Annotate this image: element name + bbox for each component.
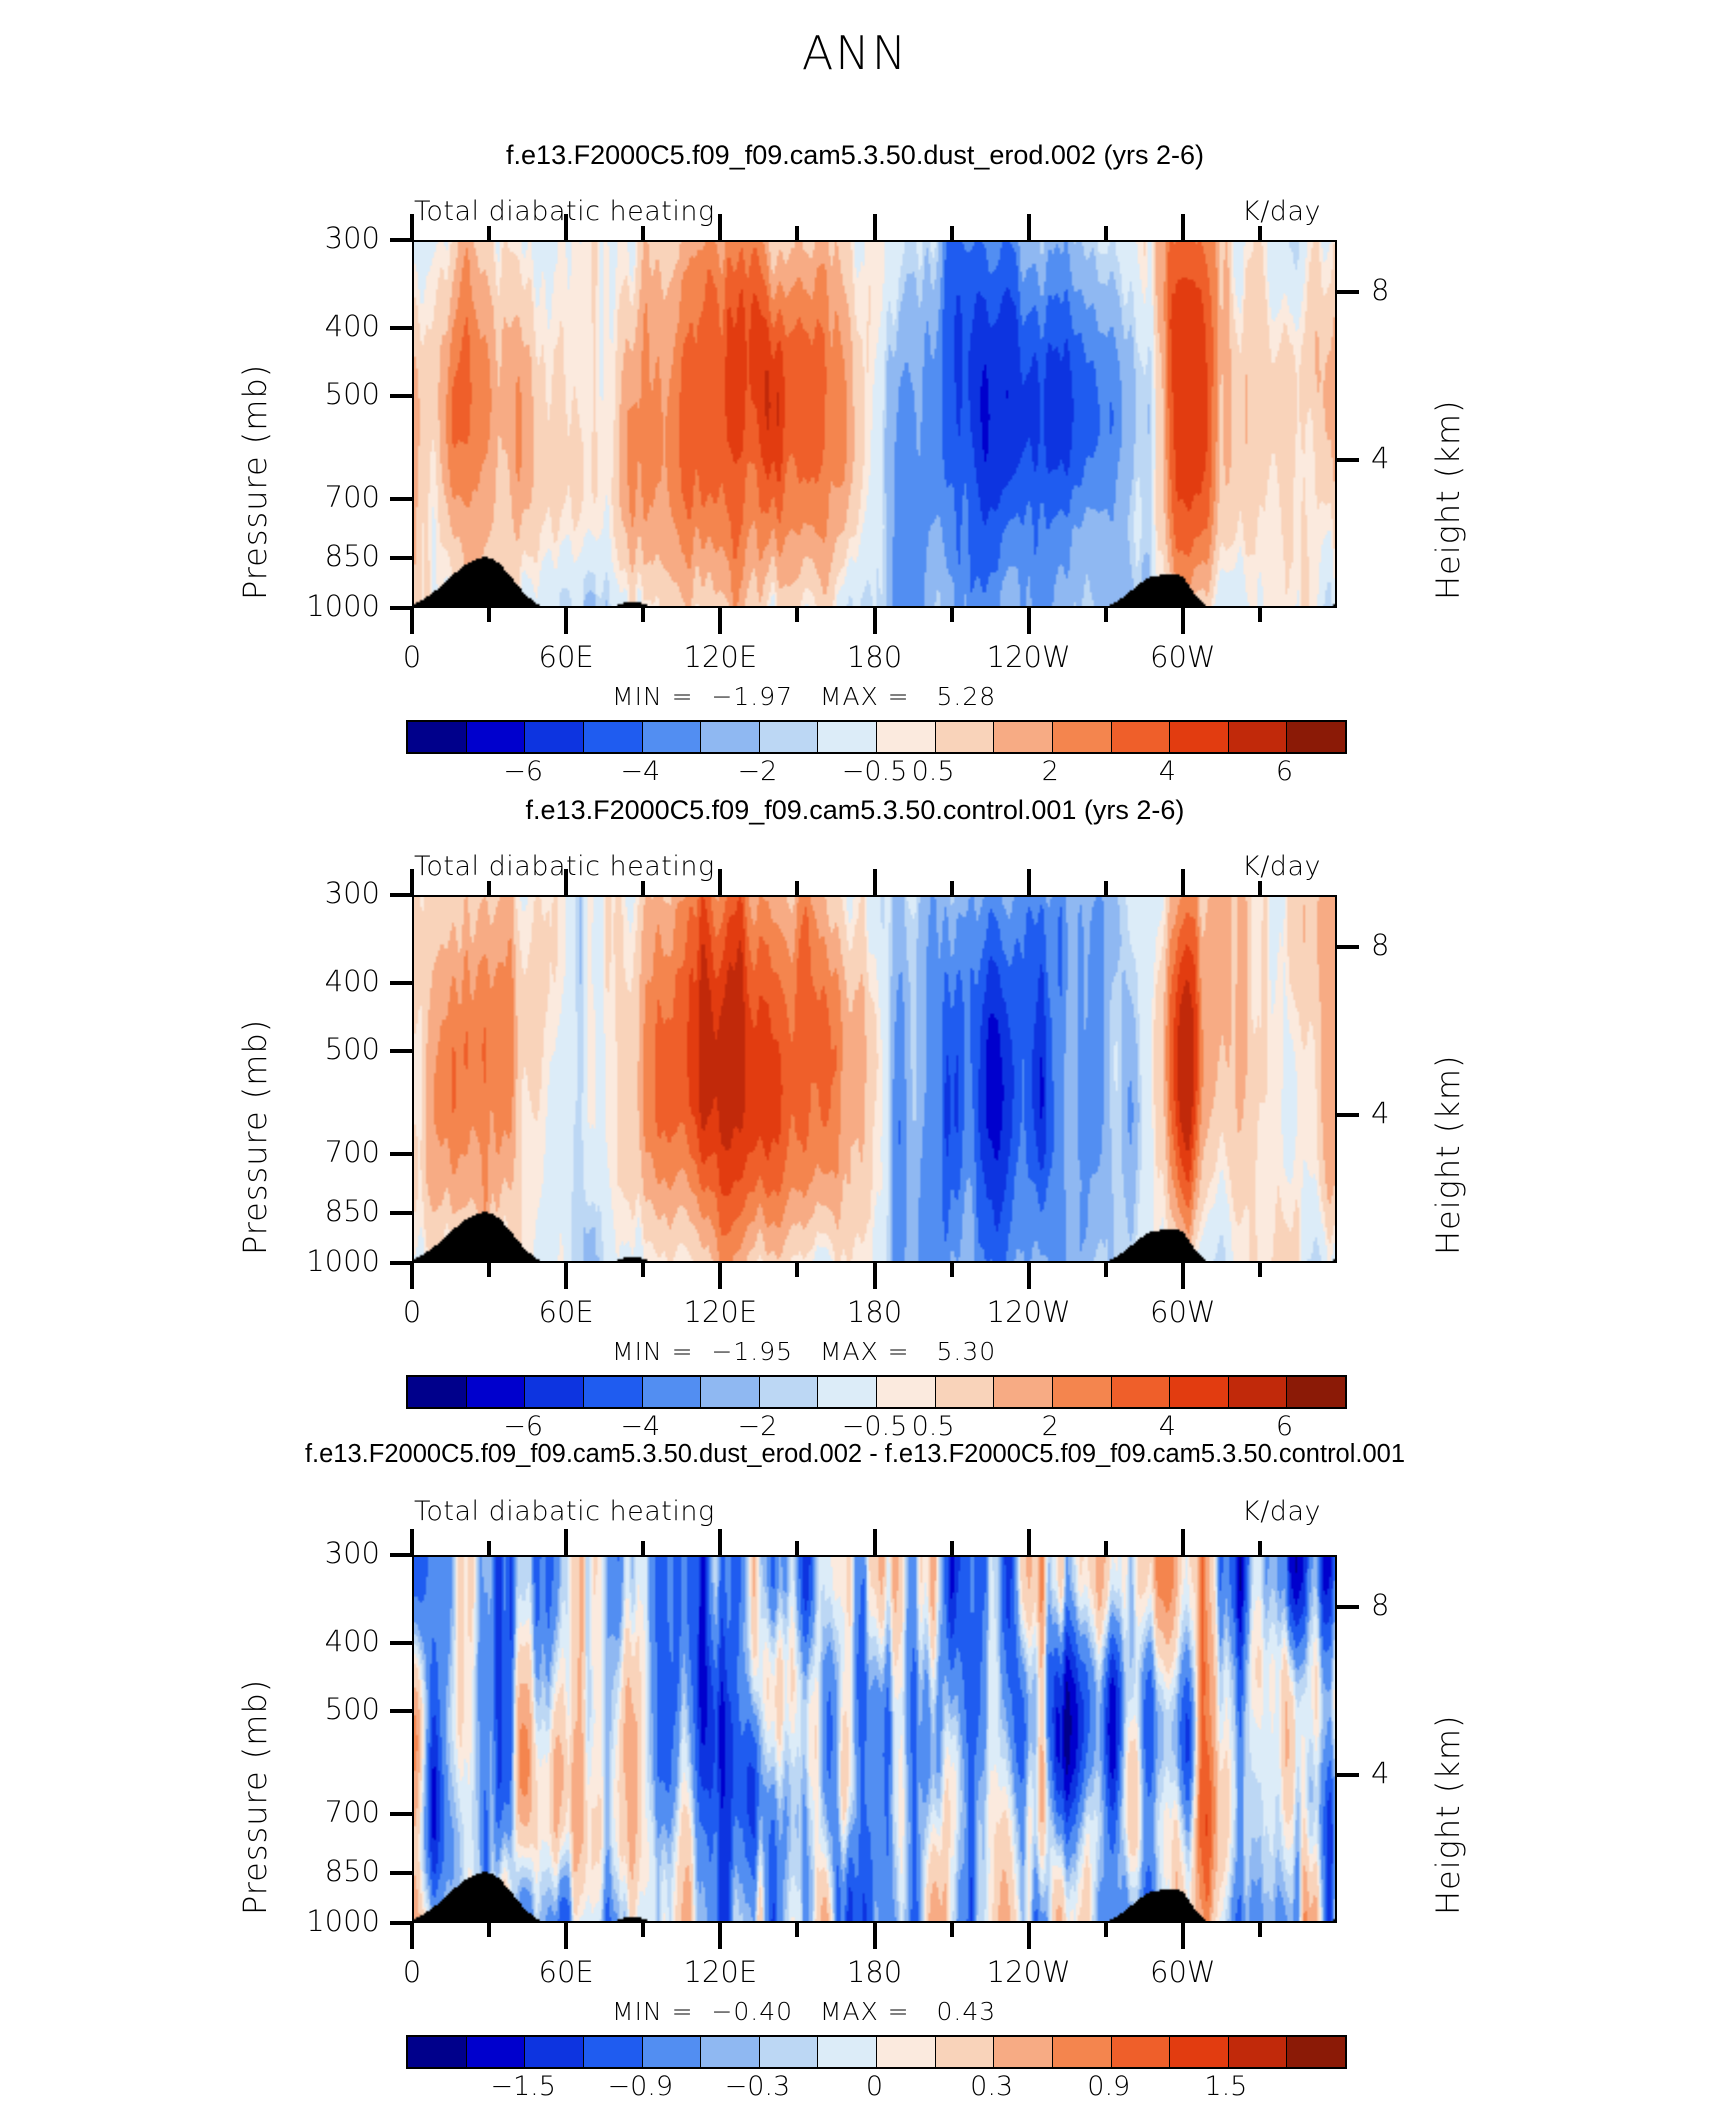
colorbar-label: 2 (990, 756, 1110, 787)
colorbar-label: 1.5 (1166, 2071, 1286, 2102)
xtick-major (564, 608, 568, 634)
ytick-major (390, 238, 412, 242)
colorbar (406, 720, 1347, 754)
ytick-label-right: 4 (1371, 1096, 1431, 1130)
y-axis-title-right: Height (km) (1429, 1714, 1467, 1915)
ytick-major (390, 1921, 412, 1925)
xtick-top-minor (641, 226, 645, 240)
colorbar-segment-10 (994, 2037, 1053, 2067)
xtick-top-minor (641, 881, 645, 895)
xtick-major (1181, 608, 1185, 634)
max-value: 5.28 (936, 682, 996, 711)
xtick-label: 120W (949, 1295, 1109, 1329)
xtick-label: 60E (486, 1955, 646, 1989)
colorbar-segment-8 (877, 722, 936, 752)
xtick-top-major (410, 1529, 414, 1555)
xtick-top-major (410, 214, 414, 240)
xtick-top-minor (795, 226, 799, 240)
xtick-minor (641, 608, 645, 622)
xtick-minor (1104, 1923, 1108, 1937)
colorbar-segment-3 (584, 1377, 643, 1407)
colorbar-label: −0.3 (697, 2071, 817, 2102)
ytick-major (390, 606, 412, 610)
ytick-label-right: 4 (1371, 441, 1431, 475)
max-value: 5.30 (936, 1337, 996, 1366)
colorbar-segment-2 (525, 722, 584, 752)
colorbar (406, 1375, 1347, 1409)
colorbar-segment-4 (643, 722, 702, 752)
ytick-label: 850 (262, 539, 380, 573)
xtick-top-major (873, 869, 877, 895)
colorbar-label: −4 (580, 1411, 700, 1442)
xtick-top-minor (1104, 226, 1108, 240)
colorbar-segment-7 (818, 722, 877, 752)
xtick-minor (950, 608, 954, 622)
xtick-top-minor (1258, 1541, 1262, 1555)
colorbar-segment-5 (701, 1377, 760, 1407)
xtick-label: 60W (1103, 640, 1263, 674)
xtick-major (410, 1923, 414, 1949)
colorbar-label: −2 (697, 756, 817, 787)
colorbar-segment-14 (1229, 1377, 1288, 1407)
xtick-label: 60W (1103, 1955, 1263, 1989)
colorbar-label: 4 (1107, 1411, 1227, 1442)
ytick-label: 700 (262, 480, 380, 514)
ytick-label: 300 (262, 221, 380, 255)
xtick-label: 120E (640, 1295, 800, 1329)
ytick-major (390, 1211, 412, 1215)
colorbar-label: 0.3 (932, 2071, 1052, 2102)
ytick-label: 1000 (262, 1244, 380, 1278)
min-prefix: MIN = (612, 682, 694, 711)
colorbar-segment-9 (936, 2037, 995, 2067)
colorbar-segment-12 (1112, 722, 1171, 752)
xtick-major (873, 1923, 877, 1949)
contour-field (414, 242, 1335, 606)
colorbar-segment-2 (525, 2037, 584, 2067)
ytick-label: 500 (262, 377, 380, 411)
xtick-minor (950, 1263, 954, 1277)
xtick-major (718, 1923, 722, 1949)
ytick-major (390, 326, 412, 330)
min-max-annotation: MIN = −1.97 MAX = 5.28 (612, 682, 996, 711)
ytick-label: 1000 (262, 1904, 380, 1938)
xtick-major (564, 1923, 568, 1949)
ytick-label: 300 (262, 876, 380, 910)
xtick-label: 60E (486, 640, 646, 674)
colorbar-segment-8 (877, 1377, 936, 1407)
xtick-minor (641, 1263, 645, 1277)
xtick-label: 0 (332, 640, 492, 674)
colorbar-label: 6 (1224, 1411, 1344, 1442)
xtick-top-major (564, 214, 568, 240)
xtick-top-major (1181, 869, 1185, 895)
xtick-major (564, 1263, 568, 1289)
colorbar-segment-9 (936, 722, 995, 752)
colorbar-segment-15 (1287, 722, 1345, 752)
xtick-label: 180 (795, 640, 955, 674)
xtick-major (718, 1263, 722, 1289)
xtick-label: 180 (795, 1295, 955, 1329)
ytick-major (390, 1049, 412, 1053)
xtick-top-minor (950, 881, 954, 895)
xtick-minor (795, 608, 799, 622)
colorbar-segment-5 (701, 2037, 760, 2067)
y-axis-title-right: Height (km) (1429, 399, 1467, 600)
ytick-label-right: 8 (1371, 1588, 1431, 1622)
ytick-label: 400 (262, 1624, 380, 1658)
ytick-label: 500 (262, 1692, 380, 1726)
xtick-minor (1104, 1263, 1108, 1277)
ytick-right (1337, 945, 1359, 949)
colorbar-segment-12 (1112, 1377, 1171, 1407)
colorbar-segment-14 (1229, 2037, 1288, 2067)
xtick-minor (487, 1923, 491, 1937)
min-value: −1.97 (711, 682, 793, 711)
ytick-label: 300 (262, 1536, 380, 1570)
xtick-minor (487, 608, 491, 622)
xtick-top-minor (487, 226, 491, 240)
min-max-annotation: MIN = −0.40 MAX = 0.43 (612, 1997, 996, 2026)
xtick-minor (795, 1923, 799, 1937)
ytick-major (390, 1641, 412, 1645)
colorbar-label: 4 (1107, 756, 1227, 787)
colorbar-label: −6 (463, 1411, 583, 1442)
xtick-top-major (718, 869, 722, 895)
xtick-top-major (718, 214, 722, 240)
y-axis-title: Pressure (mb) (236, 364, 274, 600)
xtick-top-major (1181, 1529, 1185, 1555)
colorbar-segment-7 (818, 2037, 877, 2067)
colorbar-label: −0.9 (580, 2071, 700, 2102)
xtick-top-major (718, 1529, 722, 1555)
min-value: −0.40 (711, 1997, 793, 2026)
xtick-top-minor (950, 1541, 954, 1555)
xtick-top-major (873, 1529, 877, 1555)
colorbar-segment-4 (643, 2037, 702, 2067)
colorbar-segment-0 (408, 722, 467, 752)
colorbar-label: 0.5 (873, 1411, 993, 1442)
contour-field (414, 1557, 1335, 1921)
xtick-label: 120W (949, 640, 1109, 674)
plot-area (412, 1555, 1337, 1923)
plot-area (412, 240, 1337, 608)
xtick-top-major (1027, 214, 1031, 240)
xtick-top-minor (1104, 881, 1108, 895)
xtick-major (1027, 1263, 1031, 1289)
colorbar (406, 2035, 1347, 2069)
ytick-right (1337, 290, 1359, 294)
colorbar-label: −6 (463, 756, 583, 787)
figure-heading: ANN (0, 26, 1710, 80)
xtick-label: 60E (486, 1295, 646, 1329)
ytick-major (390, 1871, 412, 1875)
xtick-major (718, 608, 722, 634)
colorbar-segment-15 (1287, 2037, 1345, 2067)
colorbar-label: 0 (815, 2071, 935, 2102)
ytick-label: 700 (262, 1795, 380, 1829)
xtick-label: 60W (1103, 1295, 1263, 1329)
y-axis-title-right: Height (km) (1429, 1054, 1467, 1255)
xtick-major (1027, 1923, 1031, 1949)
xtick-major (1181, 1263, 1185, 1289)
ytick-major (390, 1709, 412, 1713)
xtick-top-major (410, 869, 414, 895)
xtick-major (410, 608, 414, 634)
colorbar-segment-6 (760, 722, 819, 752)
xtick-minor (487, 1263, 491, 1277)
colorbar-segment-13 (1170, 1377, 1229, 1407)
ytick-right (1337, 1605, 1359, 1609)
ytick-label: 850 (262, 1854, 380, 1888)
subtitle-variable: Total diabatic heating (414, 1496, 715, 1527)
y-axis-title: Pressure (mb) (236, 1679, 274, 1915)
colorbar-segment-10 (994, 722, 1053, 752)
colorbar-segment-1 (467, 1377, 526, 1407)
ytick-label-right: 4 (1371, 1756, 1431, 1790)
xtick-minor (641, 1923, 645, 1937)
xtick-minor (1104, 608, 1108, 622)
xtick-major (410, 1263, 414, 1289)
xtick-top-major (1181, 214, 1185, 240)
colorbar-segment-6 (760, 2037, 819, 2067)
ytick-major (390, 1152, 412, 1156)
colorbar-label: 0.9 (1049, 2071, 1169, 2102)
colorbar-label: −2 (697, 1411, 817, 1442)
xtick-label: 120W (949, 1955, 1109, 1989)
colorbar-segment-6 (760, 1377, 819, 1407)
colorbar-label: 2 (990, 1411, 1110, 1442)
colorbar-label: 0.5 (873, 756, 993, 787)
xtick-major (1027, 608, 1031, 634)
colorbar-segment-2 (525, 1377, 584, 1407)
xtick-top-minor (487, 881, 491, 895)
xtick-top-minor (1258, 226, 1262, 240)
xtick-minor (950, 1923, 954, 1937)
ytick-major (390, 1553, 412, 1557)
subtitle-units: K/day (1242, 196, 1321, 227)
contour-field (414, 897, 1335, 1261)
xtick-label: 120E (640, 1955, 800, 1989)
ytick-label: 700 (262, 1135, 380, 1169)
xtick-major (1181, 1923, 1185, 1949)
xtick-label: 180 (795, 1955, 955, 1989)
ytick-label-right: 8 (1371, 928, 1431, 962)
colorbar-label: −4 (580, 756, 700, 787)
xtick-top-minor (795, 881, 799, 895)
ytick-major (390, 497, 412, 501)
colorbar-segment-4 (643, 1377, 702, 1407)
colorbar-segment-11 (1053, 2037, 1112, 2067)
max-prefix: MAX = (820, 682, 910, 711)
xtick-top-major (1027, 869, 1031, 895)
ytick-major (390, 394, 412, 398)
ytick-right (1337, 1113, 1359, 1117)
ytick-label: 500 (262, 1032, 380, 1066)
colorbar-segment-5 (701, 722, 760, 752)
xtick-minor (1258, 1923, 1262, 1937)
xtick-top-minor (950, 226, 954, 240)
xtick-label: 120E (640, 640, 800, 674)
colorbar-segment-13 (1170, 722, 1229, 752)
xtick-major (873, 1263, 877, 1289)
colorbar-label: −1.5 (463, 2071, 583, 2102)
xtick-minor (795, 1263, 799, 1277)
colorbar-segment-1 (467, 722, 526, 752)
ytick-label: 400 (262, 964, 380, 998)
xtick-top-minor (641, 1541, 645, 1555)
panel-title: f.e13.F2000C5.f09_f09.cam5.3.50.control.… (0, 795, 1710, 826)
ytick-right (1337, 1773, 1359, 1777)
colorbar-segment-11 (1053, 1377, 1112, 1407)
xtick-label: 0 (332, 1955, 492, 1989)
colorbar-label: 6 (1224, 756, 1344, 787)
colorbar-segment-1 (467, 2037, 526, 2067)
xtick-top-minor (795, 1541, 799, 1555)
colorbar-segment-11 (1053, 722, 1112, 752)
min-prefix: MIN = (612, 1337, 694, 1366)
colorbar-segment-3 (584, 2037, 643, 2067)
xtick-top-major (1027, 1529, 1031, 1555)
panel-title: f.e13.F2000C5.f09_f09.cam5.3.50.dust_ero… (0, 140, 1710, 171)
ytick-major (390, 1812, 412, 1816)
xtick-top-major (564, 1529, 568, 1555)
ytick-major (390, 556, 412, 560)
min-max-annotation: MIN = −1.95 MAX = 5.30 (612, 1337, 996, 1366)
ytick-label: 1000 (262, 589, 380, 623)
ytick-label: 400 (262, 309, 380, 343)
colorbar-segment-0 (408, 1377, 467, 1407)
panel-title: f.e13.F2000C5.f09_f09.cam5.3.50.dust_ero… (0, 1440, 1710, 1469)
colorbar-segment-7 (818, 1377, 877, 1407)
xtick-top-major (873, 214, 877, 240)
colorbar-segment-15 (1287, 1377, 1345, 1407)
subtitle-units: K/day (1242, 1496, 1321, 1527)
colorbar-segment-3 (584, 722, 643, 752)
min-prefix: MIN = (612, 1997, 694, 2026)
xtick-top-minor (487, 1541, 491, 1555)
xtick-minor (1258, 608, 1262, 622)
ytick-major (390, 1261, 412, 1265)
ytick-right (1337, 458, 1359, 462)
max-prefix: MAX = (820, 1997, 910, 2026)
xtick-label: 0 (332, 1295, 492, 1329)
xtick-top-minor (1104, 1541, 1108, 1555)
colorbar-segment-9 (936, 1377, 995, 1407)
xtick-top-major (564, 869, 568, 895)
max-prefix: MAX = (820, 1337, 910, 1366)
xtick-top-minor (1258, 881, 1262, 895)
colorbar-segment-14 (1229, 722, 1288, 752)
xtick-major (873, 608, 877, 634)
ytick-major (390, 981, 412, 985)
colorbar-segment-12 (1112, 2037, 1171, 2067)
colorbar-segment-13 (1170, 2037, 1229, 2067)
ytick-label: 850 (262, 1194, 380, 1228)
plot-area (412, 895, 1337, 1263)
colorbar-segment-0 (408, 2037, 467, 2067)
xtick-minor (1258, 1263, 1262, 1277)
min-value: −1.95 (711, 1337, 793, 1366)
ytick-label-right: 8 (1371, 273, 1431, 307)
max-value: 0.43 (936, 1997, 996, 2026)
ytick-major (390, 893, 412, 897)
y-axis-title: Pressure (mb) (236, 1019, 274, 1255)
colorbar-segment-8 (877, 2037, 936, 2067)
subtitle-units: K/day (1242, 851, 1321, 882)
colorbar-segment-10 (994, 1377, 1053, 1407)
